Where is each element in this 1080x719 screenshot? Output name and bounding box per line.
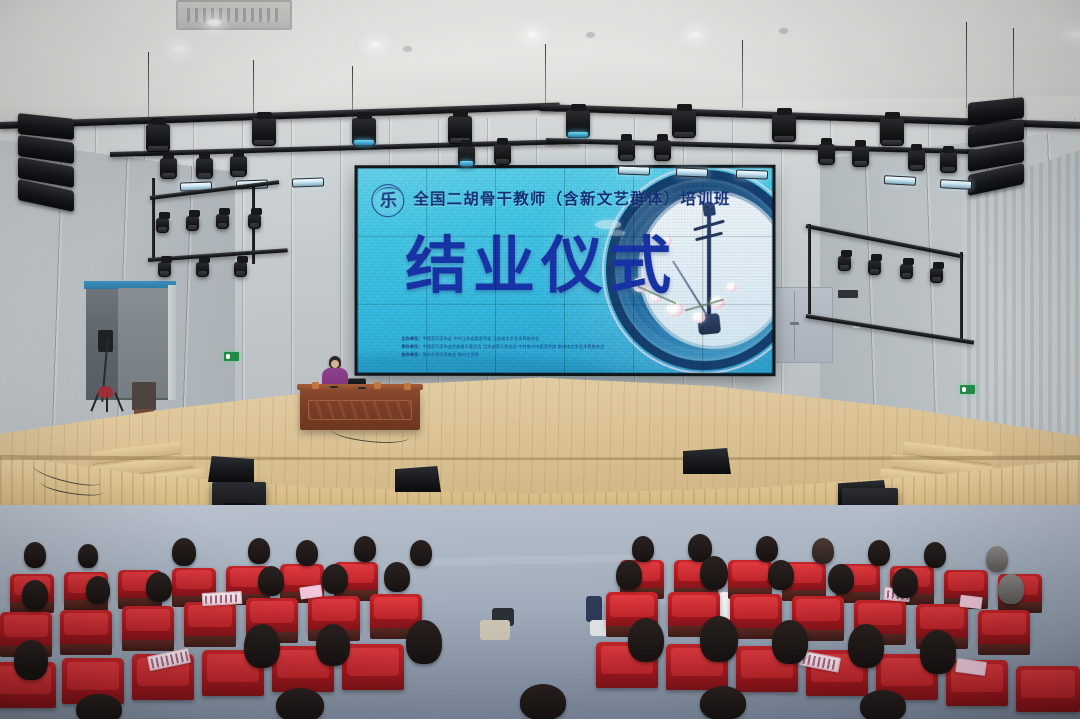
led-video-wall: 乐 全国二胡骨干教师（含新文艺群体）培训班 结业仪式 主办单位：中国音乐家协会 … [358,168,773,373]
credit-line: 协办单位：常州市音乐家协会 常州工学院 [401,351,701,359]
audience-person-head [756,536,778,562]
rig-drop-cable [352,66,353,124]
stage-light-fixture [672,110,696,138]
left-door-frame [168,285,176,400]
led-wash-bar [884,175,916,186]
podium-carved-panel [308,400,412,420]
rig-drop-cable [148,52,149,124]
ceiling-downlight [687,30,704,39]
rig-drop-cable [545,44,546,106]
audience-person-head [276,688,324,719]
ceiling-downlight [367,40,384,49]
audience-seat[interactable] [122,606,174,642]
stage-light-fixture [196,158,213,179]
audience-seat[interactable] [342,644,404,690]
stage-light-fixture [852,146,869,167]
stage-light-fixture [566,110,590,138]
stage-floor-monitor [683,448,731,474]
stage-light-fixture [186,216,199,231]
plum-blossom-icon [692,312,705,323]
stage-light-fixture [868,260,881,275]
plum-blossom-icon [666,302,684,317]
stage-light-fixture [940,152,957,173]
backstage-chair [132,382,156,410]
stage-light-fixture [458,146,475,167]
audience-person-head [998,574,1024,604]
audience-person-head [24,542,46,568]
audience-person-head [520,684,566,719]
stage-light-fixture [230,156,247,177]
stage-floor-monitor [395,466,441,492]
auditorium-photo: 乐 全国二胡骨干教师（含新文艺群体）培训班 结业仪式 主办单位：中国音乐家协会 … [0,0,1080,719]
cup-on-desk [404,383,411,390]
credit-label: 协办单位： [401,352,422,357]
desk-microphone [330,386,338,388]
stage-light-fixture [248,214,261,229]
stage-light-fixture [908,150,925,171]
truss-vertical [960,252,963,340]
stage-light-fixture [900,264,913,279]
stage-light-fixture [216,214,229,229]
audience-person-head [86,576,110,604]
audience-seat[interactable] [184,602,236,638]
audience-person-head [920,630,956,674]
audience-person-head [828,564,854,594]
smoke-detector-icon [403,46,412,51]
cup-on-desk [374,382,381,389]
stage-light-fixture [880,118,904,146]
stage-light-fixture [234,262,247,277]
credit-text: 中国音乐家协会 中共江苏省委宣传部 江苏省文学艺术界联合会 [422,336,539,341]
stage-floor-monitor [208,456,254,482]
audience-person-head [248,538,270,564]
cloud-wisp [595,220,621,229]
credit-text: 常州市音乐家协会 常州工学院 [422,352,478,357]
audience-person-head [700,616,738,662]
audience-person-head [410,540,432,566]
audience-seat[interactable] [60,610,112,646]
audience-person-head [316,624,350,666]
audience-person-head [986,546,1008,572]
stage-light-fixture [196,262,209,277]
audience-seat[interactable] [1016,666,1080,712]
erhu-instrument-icon [679,202,739,352]
exit-sign-icon [224,352,239,361]
ceiling-downlight [524,30,541,39]
ac-vent-icon [176,0,292,30]
stage-light-fixture [818,144,835,165]
stage-light-fixture [252,118,276,146]
logo-arc [376,187,401,195]
audience-person-head [22,580,48,610]
led-wash-bar [736,169,768,179]
plum-blossom-icon [726,282,737,292]
audience-person-head [632,536,654,562]
credit-label: 承办单位： [401,344,422,349]
stage-light-fixture [838,256,851,271]
audience-seat[interactable] [730,594,782,630]
stage-light-fixture [618,140,635,161]
truss-vertical [808,224,811,314]
audience-person-head [296,540,318,566]
audience-person-head [700,556,728,590]
desk-microphone [358,387,366,389]
exit-sign-icon [960,385,975,394]
ceiling-downlight [1068,30,1080,39]
audience-person-head [772,620,808,664]
seat-nametag [202,591,243,606]
stage-light-fixture [654,140,671,161]
presenter-face [331,360,339,368]
rig-drop-cable [253,60,254,126]
stage-light-fixture [146,124,170,152]
credit-label: 主办单位： [401,336,422,341]
bag-on-floor [586,596,602,622]
audience-person-head [868,540,890,566]
audience-person-head [146,572,172,602]
audience-seat[interactable] [978,610,1030,646]
audience-person-head [812,538,834,564]
stage-light-fixture [160,158,177,179]
led-wash-bar [940,179,972,190]
ceiling-downlight [206,18,223,27]
screen-title-top: 全国二胡骨干教师（含新文艺群体）培训班 [413,187,730,209]
screen-headline: 结业仪式 [405,236,677,298]
smoke-detector-icon [779,28,788,33]
audience-person-head [14,640,48,680]
audience-person-head [322,564,348,594]
bag-on-floor [480,620,510,640]
red-bag [98,386,113,398]
audience-person-head [406,620,442,664]
audience-person-head [354,536,376,562]
ceiling-downlight [170,44,187,53]
screen-credits-block: 主办单位：中国音乐家协会 中共江苏省委宣传部 江苏省文学艺术界联合会 承办单位：… [401,335,701,359]
rig-drop-cable [966,22,967,108]
smoke-detector-icon [586,32,595,37]
audience-person-head [384,562,410,592]
audience-person-head [768,560,794,590]
seat-nametag [959,595,982,610]
audience-person-head [172,538,196,566]
audience-person-head [892,568,918,598]
truss-vertical [152,178,155,260]
rig-drop-cable [742,40,743,108]
led-wash-bar [292,177,324,187]
line-array-speaker-right [968,100,1024,192]
door-handle-icon [790,322,799,325]
line-array-speaker-left [18,116,74,208]
audience-person-head [78,544,98,568]
audience-person-head [924,542,946,568]
association-logo: 乐 [371,184,404,217]
led-wash-bar [618,165,650,175]
audience-person-head [244,624,280,668]
credit-text: 中国音乐家协会民族器乐委员会 江苏省音乐家协会 中共常州市委宣传部 常州市文学艺… [422,344,604,349]
stage-light-fixture [352,118,376,146]
stage-light-fixture [156,218,169,233]
audience-seat[interactable] [728,560,772,590]
credit-line: 主办单位：中国音乐家协会 中共江苏省委宣传部 江苏省文学艺术界联合会 [401,335,701,343]
audience-person-head [700,686,746,719]
door-sign-plate [838,290,858,298]
audience-person-head [848,624,884,668]
audience-person-head [258,566,284,596]
cup-on-desk [312,382,319,389]
audience-person-head [860,690,906,719]
audience-person-head [628,618,664,662]
audience-person-head [76,694,122,719]
stage-light-fixture [930,268,943,283]
led-wash-bar [676,167,708,177]
stage-light-fixture [494,144,511,165]
stage-light-fixture [772,114,796,142]
stage-light-fixture [158,262,171,277]
audience-person-head [616,560,642,590]
